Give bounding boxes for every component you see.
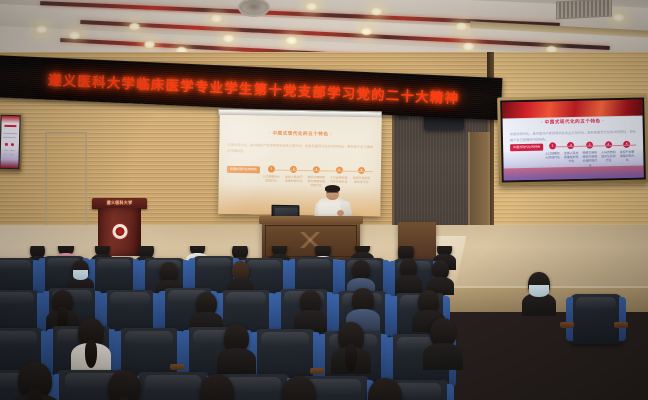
monitor-slide-tag: 中国式现代化的特色 [510, 143, 543, 151]
lectern-nameplate: 遵义医科大学 [92, 200, 147, 206]
person-head [368, 378, 402, 400]
audience-person [430, 318, 456, 348]
monitor-panel: · 中国式现代化的五个特色 · 中国式现代化，是中国共产党领导的社会主义现代化，… [502, 100, 644, 181]
seat-armrest [170, 364, 184, 370]
slide-node-dot: 1 [268, 165, 275, 172]
university-emblem-icon [111, 223, 128, 240]
audience-person [282, 376, 316, 400]
air-vent-icon [556, 0, 612, 19]
audience-person [232, 261, 249, 281]
audience-person [418, 290, 439, 314]
ceiling-downlight [285, 36, 298, 45]
audience-person [52, 290, 73, 314]
auditorium-seat[interactable] [570, 294, 622, 344]
audience-person [224, 324, 249, 353]
audience-person [338, 322, 364, 352]
ceiling-downlight [143, 40, 156, 49]
audience-person [432, 260, 449, 280]
audience-person [190, 246, 205, 256]
person-shoulders [217, 348, 256, 374]
seated-audience [0, 246, 648, 400]
seat-armrest [560, 322, 574, 328]
audience-person [300, 290, 321, 314]
projection-screen: · 中国式现代化的五个特色 · 中国式现代化，是中国共产党领导的社会主义现代化，… [218, 115, 382, 217]
ceiling-downlight [35, 25, 48, 34]
ceiling-downlight [462, 42, 475, 51]
slide-body-text: 中国式现代化，是中国共产党领导的社会主义现代化，既有各国现代化的共同特征，更有基… [227, 143, 373, 157]
audience-person [58, 246, 74, 256]
wall-display-left [0, 113, 23, 172]
left-monitor-node-dot [5, 143, 8, 146]
emblem-center [115, 227, 124, 236]
glasses-icon [327, 192, 338, 195]
slide-title: · 中国式现代化的五个特色 · [228, 129, 374, 137]
monitor-timeline-nodes: 1 人口规模巨大的现代化 2 全体人民共同富裕的现代化 3 物质文明和精神文明相… [543, 140, 637, 168]
person-head [108, 370, 141, 400]
face-mask [529, 285, 548, 297]
left-monitor-node-dot [11, 143, 14, 146]
ceiling-downlight [370, 7, 383, 16]
audience-person [400, 258, 417, 278]
audience-person [437, 246, 452, 257]
audience-person [196, 292, 217, 316]
left-monitor-panel [0, 115, 21, 170]
wall-display-right: · 中国式现代化的五个特色 · 中国式现代化，是中国共产党领导的社会主义现代化，… [497, 94, 648, 185]
audience-person [352, 260, 370, 281]
slide-node-caption: 全体人民共同富裕的现代化 [284, 174, 303, 183]
monitor-node-caption: 走和平发展道路的现代化 [619, 149, 635, 162]
ceiling-downlight [305, 2, 318, 11]
ceiling-downlight [360, 27, 373, 36]
auditorium-seat[interactable] [136, 372, 210, 400]
seat-armrest [310, 368, 324, 374]
ceiling-downlight [612, 13, 625, 22]
audience-person [368, 378, 402, 400]
audience-person [78, 318, 104, 348]
ceiling-downlight [210, 14, 223, 23]
seat-armrest [614, 322, 628, 328]
ceiling [0, 0, 648, 58]
desk-top-edge [259, 216, 363, 224]
monitor-slide-timeline: 中国式现代化的特色 1 人口规模巨大的现代化 2 全体人民共同富裕的现代化 [510, 140, 637, 169]
auditorium-scene: 遵义医科大学临床医学专业学生第十党支部学习党的二十大精神 · 中国式现代化的五个… [0, 0, 648, 400]
audience-person [72, 260, 89, 280]
person-head [282, 376, 316, 400]
monitor-node-caption: 物质文明和精神文明相协调的现代化 [582, 150, 598, 168]
audience-person [352, 288, 374, 313]
monitor-node-caption: 全体人民共同富裕的现代化 [563, 150, 579, 163]
audience-person [30, 246, 45, 259]
ceiling-downlight [222, 34, 235, 43]
audience-person [355, 246, 370, 255]
audience-person [95, 246, 110, 257]
slide-node-caption: 走和平发展道路的现代化 [352, 175, 371, 184]
monitor-node-caption: 人口规模巨大的现代化 [545, 151, 561, 160]
audience-person [160, 262, 178, 283]
monitor-slide-title: · 中国式现代化的五个特色 · [510, 118, 636, 127]
slide-node-caption: 人口规模巨大的现代化 [262, 174, 281, 183]
audience-person [108, 370, 141, 400]
ceiling-downlight [455, 22, 468, 31]
monitor-node-caption: 人与自然和谐共生的现代化 [600, 150, 616, 163]
person-shoulders [423, 343, 464, 370]
presenter-hair [325, 185, 340, 192]
audience-person [18, 362, 52, 400]
slide-node-caption: 人与自然和谐共生的现代化 [329, 175, 348, 184]
audience-person [528, 272, 550, 297]
audience-person [200, 374, 234, 400]
face-mask [73, 270, 88, 279]
monitor-slide-content: · 中国式现代化的五个特色 · 中国式现代化，是中国共产党领导的社会主义现代化，… [502, 100, 644, 181]
left-monitor-title-bar [4, 125, 17, 127]
ceiling-downlight [128, 22, 141, 31]
audience-person [272, 246, 287, 257]
slide-tag-label: 中国式现代化的特色 [227, 165, 260, 173]
monitor-bezel: · 中国式现代化的五个特色 · 中国式现代化，是中国共产党领导的社会主义现代化，… [500, 98, 646, 183]
person-head [200, 374, 234, 400]
ceiling-downlight [68, 31, 81, 40]
